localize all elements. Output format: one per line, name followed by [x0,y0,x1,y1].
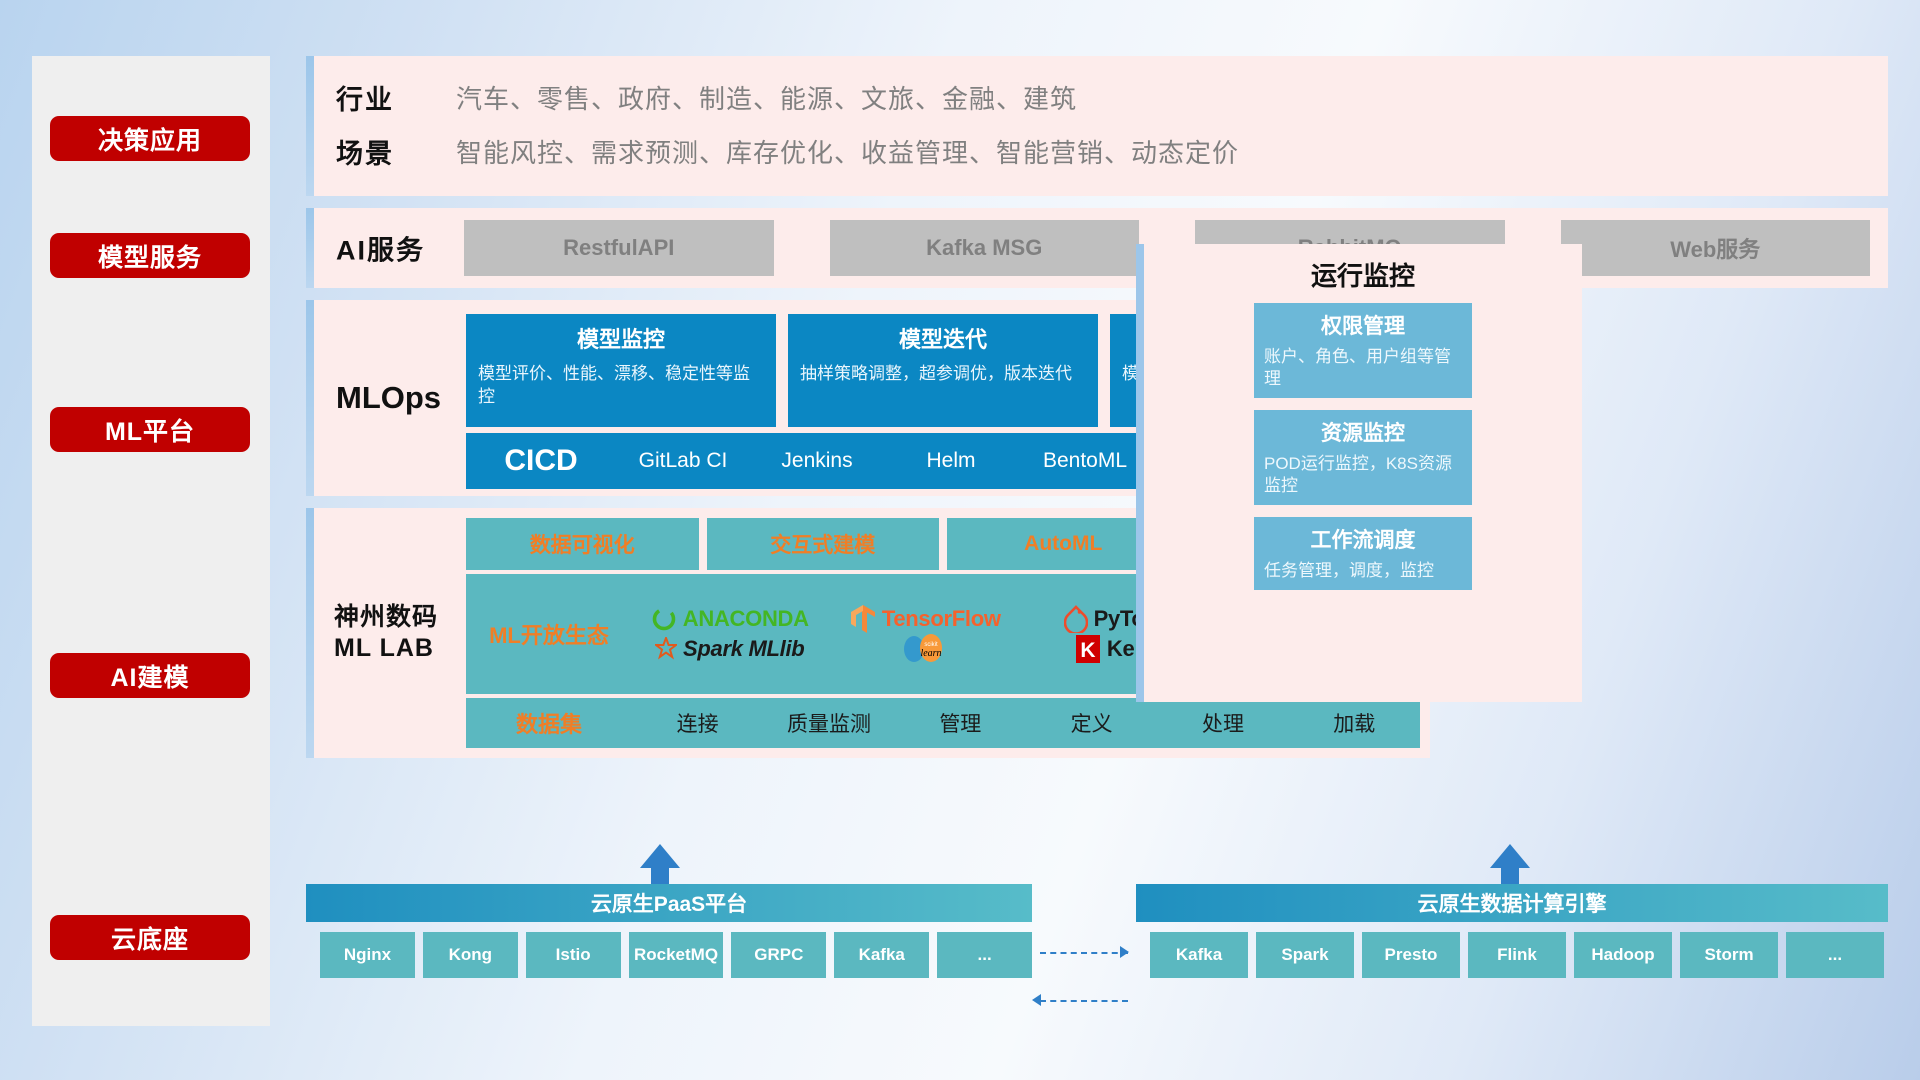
rail-item-decision-apps[interactable]: 决策应用 [50,116,250,161]
spark-mllib-logo: Spark MLlib [655,636,804,662]
engine-chip-hadoop[interactable]: Hadoop [1574,932,1672,978]
rail-item-ml-platform[interactable]: ML平台 [50,407,250,452]
rail-item-cloud-base[interactable]: 云底座 [50,915,250,960]
cicd-item-jenkins[interactable]: Jenkins [750,450,884,472]
engine-chip-more[interactable]: ... [1786,932,1884,978]
mlops-card-title: 模型迭代 [800,322,1086,354]
monitor-card-resource[interactable]: 资源监控 POD运行监控，K8S资源监控 [1254,410,1472,505]
dataset-item-quality[interactable]: 质量监测 [763,708,894,738]
keras-icon: K [1075,634,1101,664]
engine-chip-spark[interactable]: Spark [1256,932,1354,978]
mlops-card-model-iteration[interactable]: 模型迭代 抽样策略调整，超参调优，版本迭代 [788,314,1098,427]
cicd-item-gitlab-ci[interactable]: GitLab CI [616,450,750,472]
paas-chip-nginx[interactable]: Nginx [320,932,415,978]
engine-up-arrow-head [1490,844,1530,868]
monitor-card-title: 资源监控 [1264,417,1462,447]
main-column: 行业 汽车、零售、政府、制造、能源、文旅、金融、建筑 场景 智能风控、需求预测、… [306,56,1888,1026]
scikit-learn-logo: scikit learn [902,634,948,664]
engine-chip-storm[interactable]: Storm [1680,932,1778,978]
svg-text:K: K [1080,639,1095,662]
paas-platform-bar[interactable]: 云原生PaaS平台 [306,884,1032,922]
paas-chip-istio[interactable]: Istio [526,932,621,978]
paas-chip-grpc[interactable]: GRPC [731,932,826,978]
tensorflow-icon [850,604,876,634]
mlops-card-model-monitoring[interactable]: 模型监控 模型评价、性能、漂移、稳定性等监控 [466,314,776,427]
industry-label: 行业 [336,78,456,117]
anaconda-icon [651,606,677,632]
tensorflow-logo: TensorFlow [850,604,1001,634]
paas-up-arrow-stem [651,866,669,886]
industry-values: 汽车、零售、政府、制造、能源、文旅、金融、建筑 [456,79,1077,116]
monitor-card-workflow[interactable]: 工作流调度 任务管理，调度，监控 [1254,517,1472,590]
engine-chip-presto[interactable]: Presto [1362,932,1460,978]
ml-lab-label-line1: 神州数码 [334,602,438,633]
left-rail: 决策应用 模型服务 ML平台 AI建模 云底座 [32,56,270,1026]
paas-up-arrow-head [640,844,680,868]
decision-apps-band: 行业 汽车、零售、政府、制造、能源、文旅、金融、建筑 场景 智能风控、需求预测、… [306,56,1888,196]
paas-engine-link-top [1040,952,1128,954]
runtime-monitoring-title: 运行监控 [1144,244,1582,303]
engine-chip-flink[interactable]: Flink [1468,932,1566,978]
ml-lab-label-line2: ML LAB [334,633,438,664]
spark-star-icon [655,637,677,661]
data-compute-engine-bar[interactable]: 云原生数据计算引擎 [1136,884,1888,922]
mlops-card-desc: 模型评价、性能、漂移、稳定性等监控 [478,363,764,409]
paas-engine-arrow-left [1032,994,1041,1006]
dataset-title: 数据集 [466,707,632,739]
pytorch-icon [1064,605,1088,633]
dataset-item-process[interactable]: 处理 [1157,708,1288,738]
anaconda-logo: ANACONDA [651,606,809,632]
dataset-item-define[interactable]: 定义 [1026,708,1157,738]
paas-chip-kafka[interactable]: Kafka [834,932,929,978]
engine-chip-kafka[interactable]: Kafka [1150,932,1248,978]
svg-text:learn: learn [921,648,942,659]
mlops-label: MLOps [336,380,441,416]
cicd-item-helm[interactable]: Helm [884,450,1018,472]
monitor-card-permission[interactable]: 权限管理 账户、角色、用户组等管理 [1254,303,1472,398]
scikit-learn-icon: scikit learn [902,634,948,664]
monitor-card-desc: POD运行监控，K8S资源监控 [1264,453,1462,497]
paas-chip-row: Nginx Kong Istio RocketMQ GRPC Kafka ... [320,932,1032,978]
paas-chip-kong[interactable]: Kong [423,932,518,978]
engine-chip-row: Kafka Spark Presto Flink Hadoop Storm ..… [1150,932,1888,978]
rail-item-ai-modeling[interactable]: AI建模 [50,653,250,698]
paas-engine-arrow-right [1120,946,1129,958]
dataset-item-manage[interactable]: 管理 [895,708,1026,738]
scenario-values: 智能风控、需求预测、库存优化、收益管理、智能营销、动态定价 [456,133,1239,170]
monitor-card-desc: 账户、角色、用户组等管理 [1264,346,1462,390]
dataset-item-load[interactable]: 加载 [1289,708,1420,738]
ai-service-label: AI服务 [336,229,425,268]
dataset-row: 数据集 连接 质量监测 管理 定义 处理 加载 [466,698,1420,748]
ai-chip-kafka-msg[interactable]: Kafka MSG [830,220,1140,276]
anaconda-logo-text: ANACONDA [683,606,809,632]
ai-chip-restfulapi[interactable]: RestfulAPI [464,220,774,276]
runtime-monitoring-panel: 运行监控 权限管理 账户、角色、用户组等管理 资源监控 POD运行监控，K8S资… [1136,244,1582,702]
scenario-label: 场景 [336,132,456,171]
spark-mllib-logo-text: Spark MLlib [683,636,804,662]
mlops-card-title: 模型监控 [478,322,764,354]
monitor-card-desc: 任务管理，调度，监控 [1264,560,1462,582]
industry-row: 行业 汽车、零售、政府、制造、能源、文旅、金融、建筑 [336,78,1077,117]
rail-item-model-service[interactable]: 模型服务 [50,233,250,278]
cicd-title: CICD [466,444,616,478]
engine-up-arrow-stem [1501,866,1519,886]
architecture-diagram: 决策应用 模型服务 ML平台 AI建模 云底座 行业 汽车、零售、政府、制造、能… [0,0,1920,1080]
dataset-items: 连接 质量监测 管理 定义 处理 加载 [632,708,1420,738]
tensorflow-logo-text: TensorFlow [882,606,1001,632]
ai-chip-web-service[interactable]: Web服务 [1561,220,1871,276]
cicd-item-bentoml[interactable]: BentoML [1018,450,1152,472]
paas-engine-link-bottom [1040,1000,1128,1002]
mlops-card-desc: 抽样策略调整，超参调优，版本迭代 [800,363,1086,386]
ai-service-band: AI服务 RestfulAPI Kafka MSG RabbitMQ Web服务 [306,208,1888,288]
paas-chip-rocketmq[interactable]: RocketMQ [629,932,724,978]
lab-tool-data-visualization[interactable]: 数据可视化 [466,518,699,570]
lab-tool-interactive-modeling[interactable]: 交互式建模 [707,518,940,570]
monitor-card-title: 权限管理 [1264,310,1462,340]
monitor-card-title: 工作流调度 [1264,524,1462,554]
paas-chip-more[interactable]: ... [937,932,1032,978]
scenario-row: 场景 智能风控、需求预测、库存优化、收益管理、智能营销、动态定价 [336,132,1239,171]
ml-open-ecosystem-title: ML开放生态 [466,618,632,650]
dataset-item-connect[interactable]: 连接 [632,708,763,738]
ml-lab-label: 神州数码 ML LAB [334,602,438,665]
